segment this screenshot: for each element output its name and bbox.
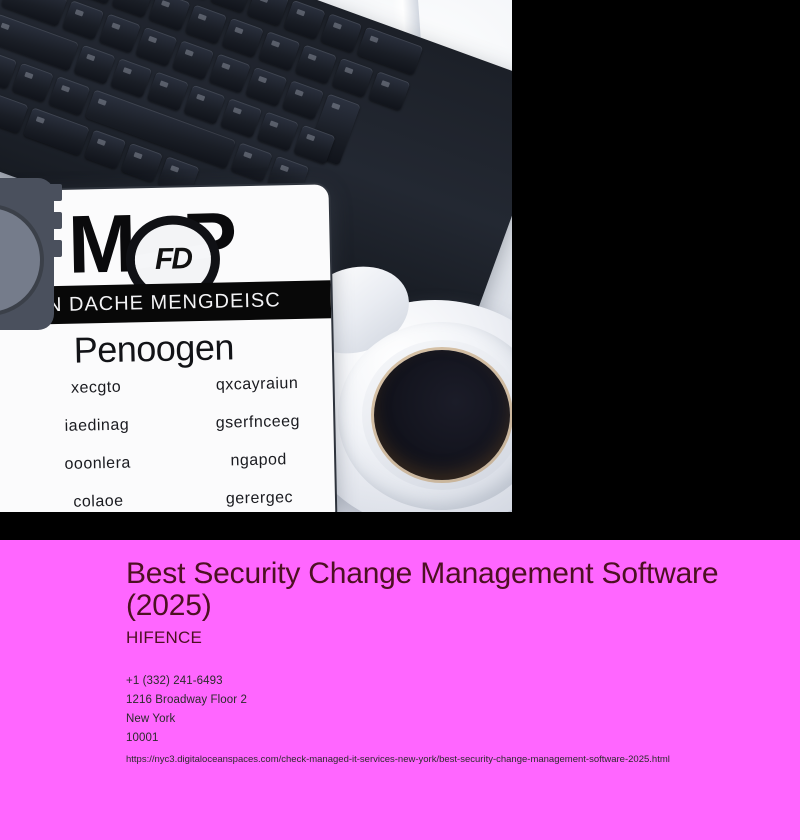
keyboard-key bbox=[148, 0, 190, 31]
keyboard-key bbox=[283, 0, 325, 40]
hero-image-region: MoP FD HIN DACHE MENGDEISC Penoogen xecg… bbox=[0, 0, 800, 540]
keyboard-key bbox=[320, 13, 362, 53]
keyboard-key bbox=[230, 142, 272, 182]
keyboard-key bbox=[331, 58, 373, 98]
card-word: ngapod bbox=[205, 451, 312, 471]
keyboard-key bbox=[99, 14, 141, 54]
card-word: gserfnceeg bbox=[204, 413, 311, 433]
info-panel: Best Security Change Management Software… bbox=[0, 540, 800, 840]
keyboard-key bbox=[121, 143, 163, 183]
card-word-column: qxcayraiun gserfnceeg ngapod gerergec bbox=[203, 375, 313, 512]
page-title: Best Security Change Management Software… bbox=[126, 558, 792, 622]
gear-icon bbox=[0, 178, 54, 330]
card-word: gerergec bbox=[206, 489, 313, 509]
contact-address-zip: 10001 bbox=[126, 729, 792, 748]
page-root: MoP FD HIN DACHE MENGDEISC Penoogen xecg… bbox=[0, 0, 800, 840]
keyboard-key bbox=[209, 54, 251, 94]
keyboard-key bbox=[247, 0, 289, 26]
card-word: qxcayraiun bbox=[203, 375, 310, 395]
keyboard-key bbox=[282, 80, 324, 120]
keyboard-key bbox=[12, 63, 54, 103]
keyboard-key bbox=[62, 0, 104, 40]
hero-letterbox-right bbox=[512, 0, 800, 540]
keyboard-key bbox=[258, 31, 300, 71]
card-heading-text: Penoogen bbox=[0, 324, 332, 373]
keyboard-key bbox=[222, 18, 264, 58]
keyboard-key bbox=[84, 130, 126, 170]
keyboard-key bbox=[368, 71, 410, 111]
contact-address-street: 1216 Broadway Floor 2 bbox=[126, 691, 792, 710]
source-url-link[interactable]: https://nyc3.digitaloceanspaces.com/chec… bbox=[126, 752, 792, 768]
card-word: colaoe bbox=[45, 492, 152, 512]
keyboard-key bbox=[172, 40, 214, 80]
contact-address-city: New York bbox=[126, 710, 792, 729]
keyboard-key bbox=[112, 0, 154, 18]
hero-letterbox-bottom bbox=[0, 512, 512, 540]
keyboard-key bbox=[135, 27, 177, 67]
keyboard-key bbox=[210, 0, 252, 13]
keyboard-key bbox=[185, 4, 227, 44]
brand-name: HIFENCE bbox=[126, 628, 792, 648]
card-word-column: xecgto iaedinag ooonlera colaoe bbox=[42, 378, 152, 512]
info-content: Best Security Change Management Software… bbox=[126, 558, 792, 768]
card-word: iaedinag bbox=[43, 416, 150, 436]
keyboard-key bbox=[245, 67, 287, 107]
card-word: ooonlera bbox=[44, 454, 151, 474]
hero-photo: MoP FD HIN DACHE MENGDEISC Penoogen xecg… bbox=[0, 0, 512, 512]
card-word: xecgto bbox=[42, 378, 149, 398]
keyboard-key bbox=[295, 45, 337, 85]
coffee-liquid bbox=[374, 350, 510, 480]
keyboard-key bbox=[48, 76, 90, 116]
card-word-columns: xecgto iaedinag ooonlera colaoe qxcayrai… bbox=[42, 375, 313, 512]
contact-phone[interactable]: +1 (332) 241-6493 bbox=[126, 672, 792, 691]
contact-block: +1 (332) 241-6493 1216 Broadway Floor 2 … bbox=[126, 672, 792, 768]
mop-emblem-label: FD bbox=[155, 242, 192, 277]
